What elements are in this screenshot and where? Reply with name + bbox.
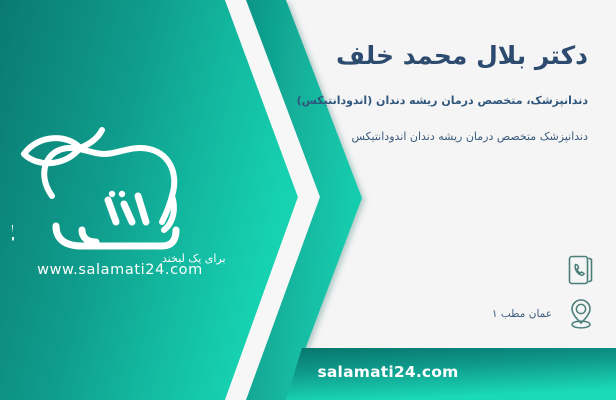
logo-url: www.salamati24.com	[37, 262, 203, 274]
brand-logo: 24 برای یک لبخند www.salamati24.com	[12, 104, 227, 274]
contact-list: عمان مطب ۱	[280, 248, 600, 336]
doctor-specialty-secondary: دندانپزشک متخصص درمان ریشه دندان اندودان…	[276, 129, 588, 146]
salamati24-logo-mark: 24 برای یک لبخند www.salamati24.com	[12, 104, 227, 274]
card-content: دکتر بلال محمد خلف دندانپزشک، متخصص درما…	[276, 0, 616, 400]
business-card: 24 برای یک لبخند www.salamati24.com دکتر…	[0, 0, 616, 400]
doctor-name: دکتر بلال محمد خلف	[276, 40, 588, 71]
contact-label-location: عمان مطب ۱	[492, 308, 552, 320]
map-pin-icon[interactable]	[562, 295, 600, 333]
footer-site-url[interactable]: salamati24.com	[0, 363, 616, 381]
footer-bar: salamati24.com	[0, 348, 616, 400]
svg-text:24: 24	[12, 221, 18, 251]
contact-row-phone[interactable]	[280, 248, 600, 292]
phone-book-icon[interactable]	[562, 251, 600, 289]
logo-24-badge: 24	[12, 221, 18, 251]
contact-row-location[interactable]: عمان مطب ۱	[280, 292, 600, 336]
doctor-specialty-primary: دندانپزشک، متخصص درمان ریشه دندان (اندود…	[276, 93, 588, 110]
